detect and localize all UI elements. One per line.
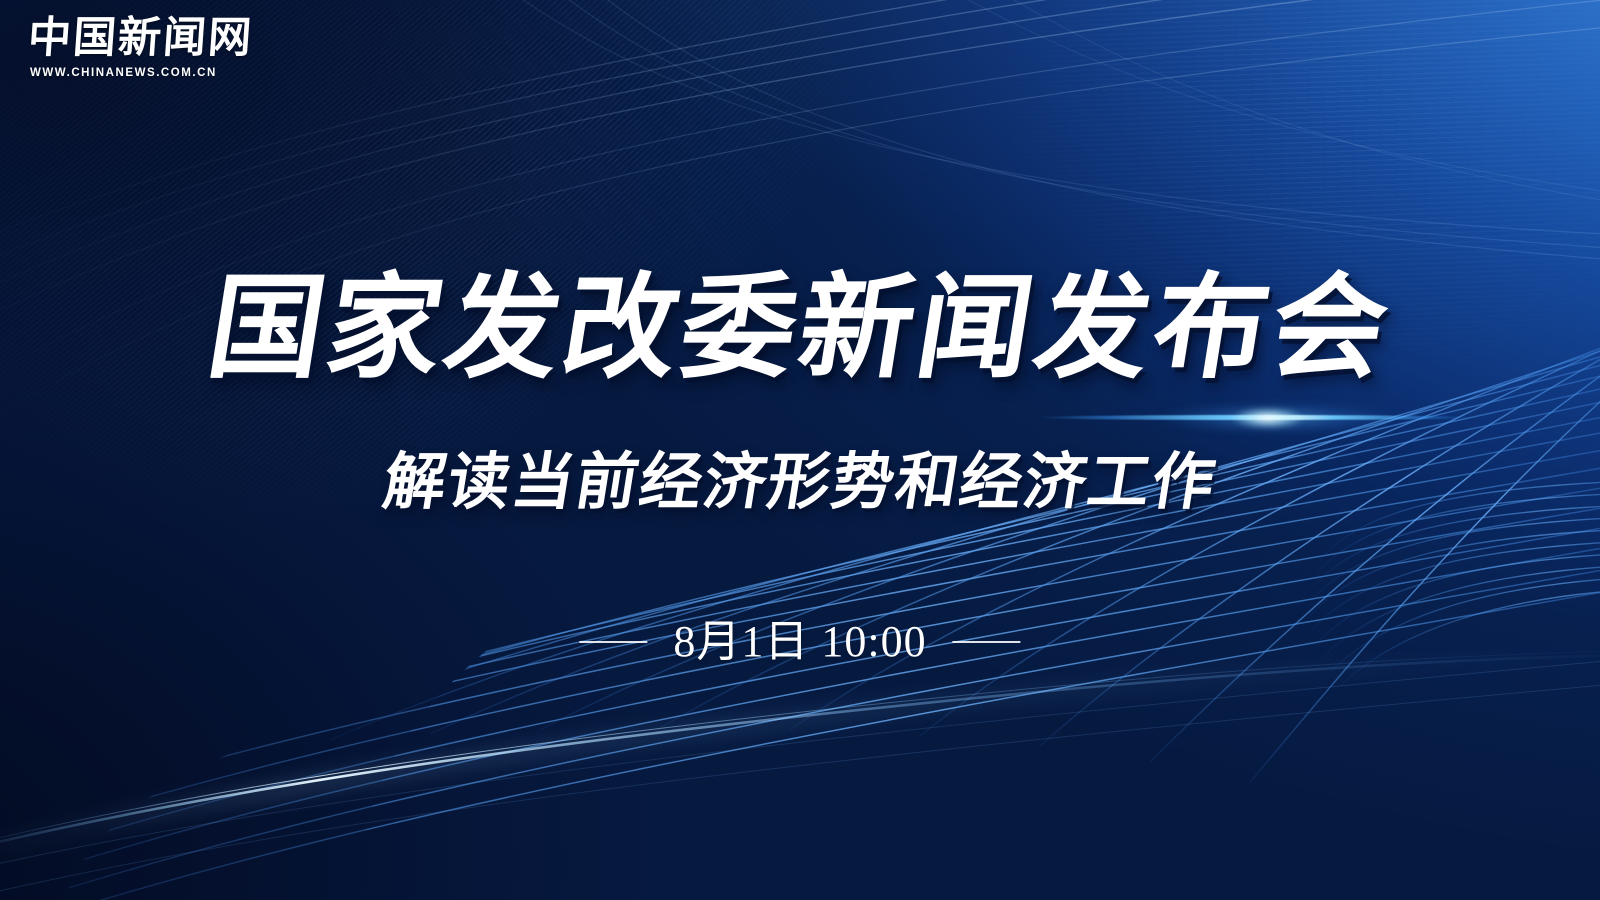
flare-streak <box>1035 415 1475 420</box>
flare-core <box>1233 408 1303 428</box>
poster-canvas: 中国新闻网 WWW.CHINANEWS.COM.CN 国家发改委新闻发布会 解读… <box>0 0 1600 900</box>
lens-flare-glow <box>1035 399 1475 437</box>
event-datetime: 8月1日 10:00 <box>673 620 926 664</box>
rule-right <box>953 641 1021 643</box>
event-datetime-bar: 8月1日 10:00 <box>579 620 1020 664</box>
logo-url: WWW.CHINANEWS.COM.CN <box>30 67 238 79</box>
flare-halo <box>1088 399 1422 437</box>
rule-left <box>579 641 647 643</box>
logo-wordmark: 中国新闻网 <box>26 16 239 62</box>
site-logo[interactable]: 中国新闻网 WWW.CHINANEWS.COM.CN <box>28 16 238 79</box>
hatch-texture-top-right <box>922 0 1600 418</box>
